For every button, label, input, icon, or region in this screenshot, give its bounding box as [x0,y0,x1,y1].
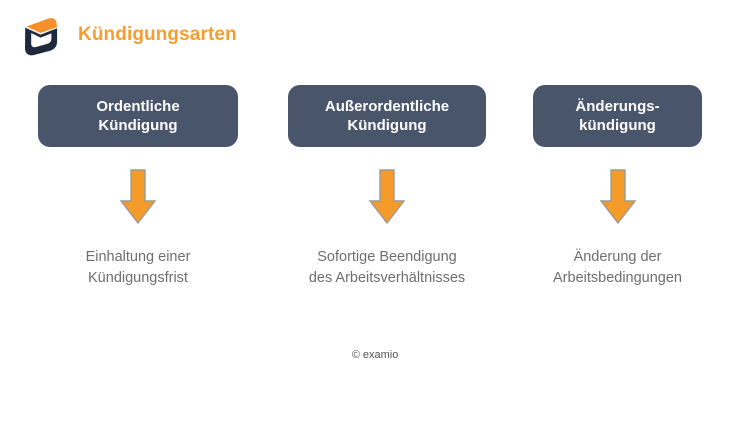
copyright-credit: © examio [0,349,750,361]
header: Kündigungsarten [18,12,237,58]
termination-caption-1: Einhaltung einer Kündigungsfrist [38,247,238,289]
flow-column-3: Änderungs- kündigung Änderung der Arbeit… [533,85,702,289]
termination-caption-2: Sofortige Beendigung des Arbeitsverhältn… [288,247,486,289]
arrow-down-icon [288,147,486,247]
termination-caption-3: Änderung der Arbeitsbedingungen [533,247,702,289]
termination-type-box-1[interactable]: Ordentliche Kündigung [38,85,238,147]
arrow-down-icon [533,147,702,247]
page-title: Kündigungsarten [78,24,237,46]
flow-column-2: Außerordentliche Kündigung Sofortige Bee… [288,85,486,289]
slide-canvas: Kündigungsarten Ordentliche Kündigung Ei… [0,0,750,422]
flow-column-1: Ordentliche Kündigung Einhaltung einer K… [38,85,238,289]
arrow-down-icon [38,147,238,247]
termination-type-box-2[interactable]: Außerordentliche Kündigung [288,85,486,147]
examio-envelope-logo-icon [18,12,64,58]
termination-type-box-3[interactable]: Änderungs- kündigung [533,85,702,147]
